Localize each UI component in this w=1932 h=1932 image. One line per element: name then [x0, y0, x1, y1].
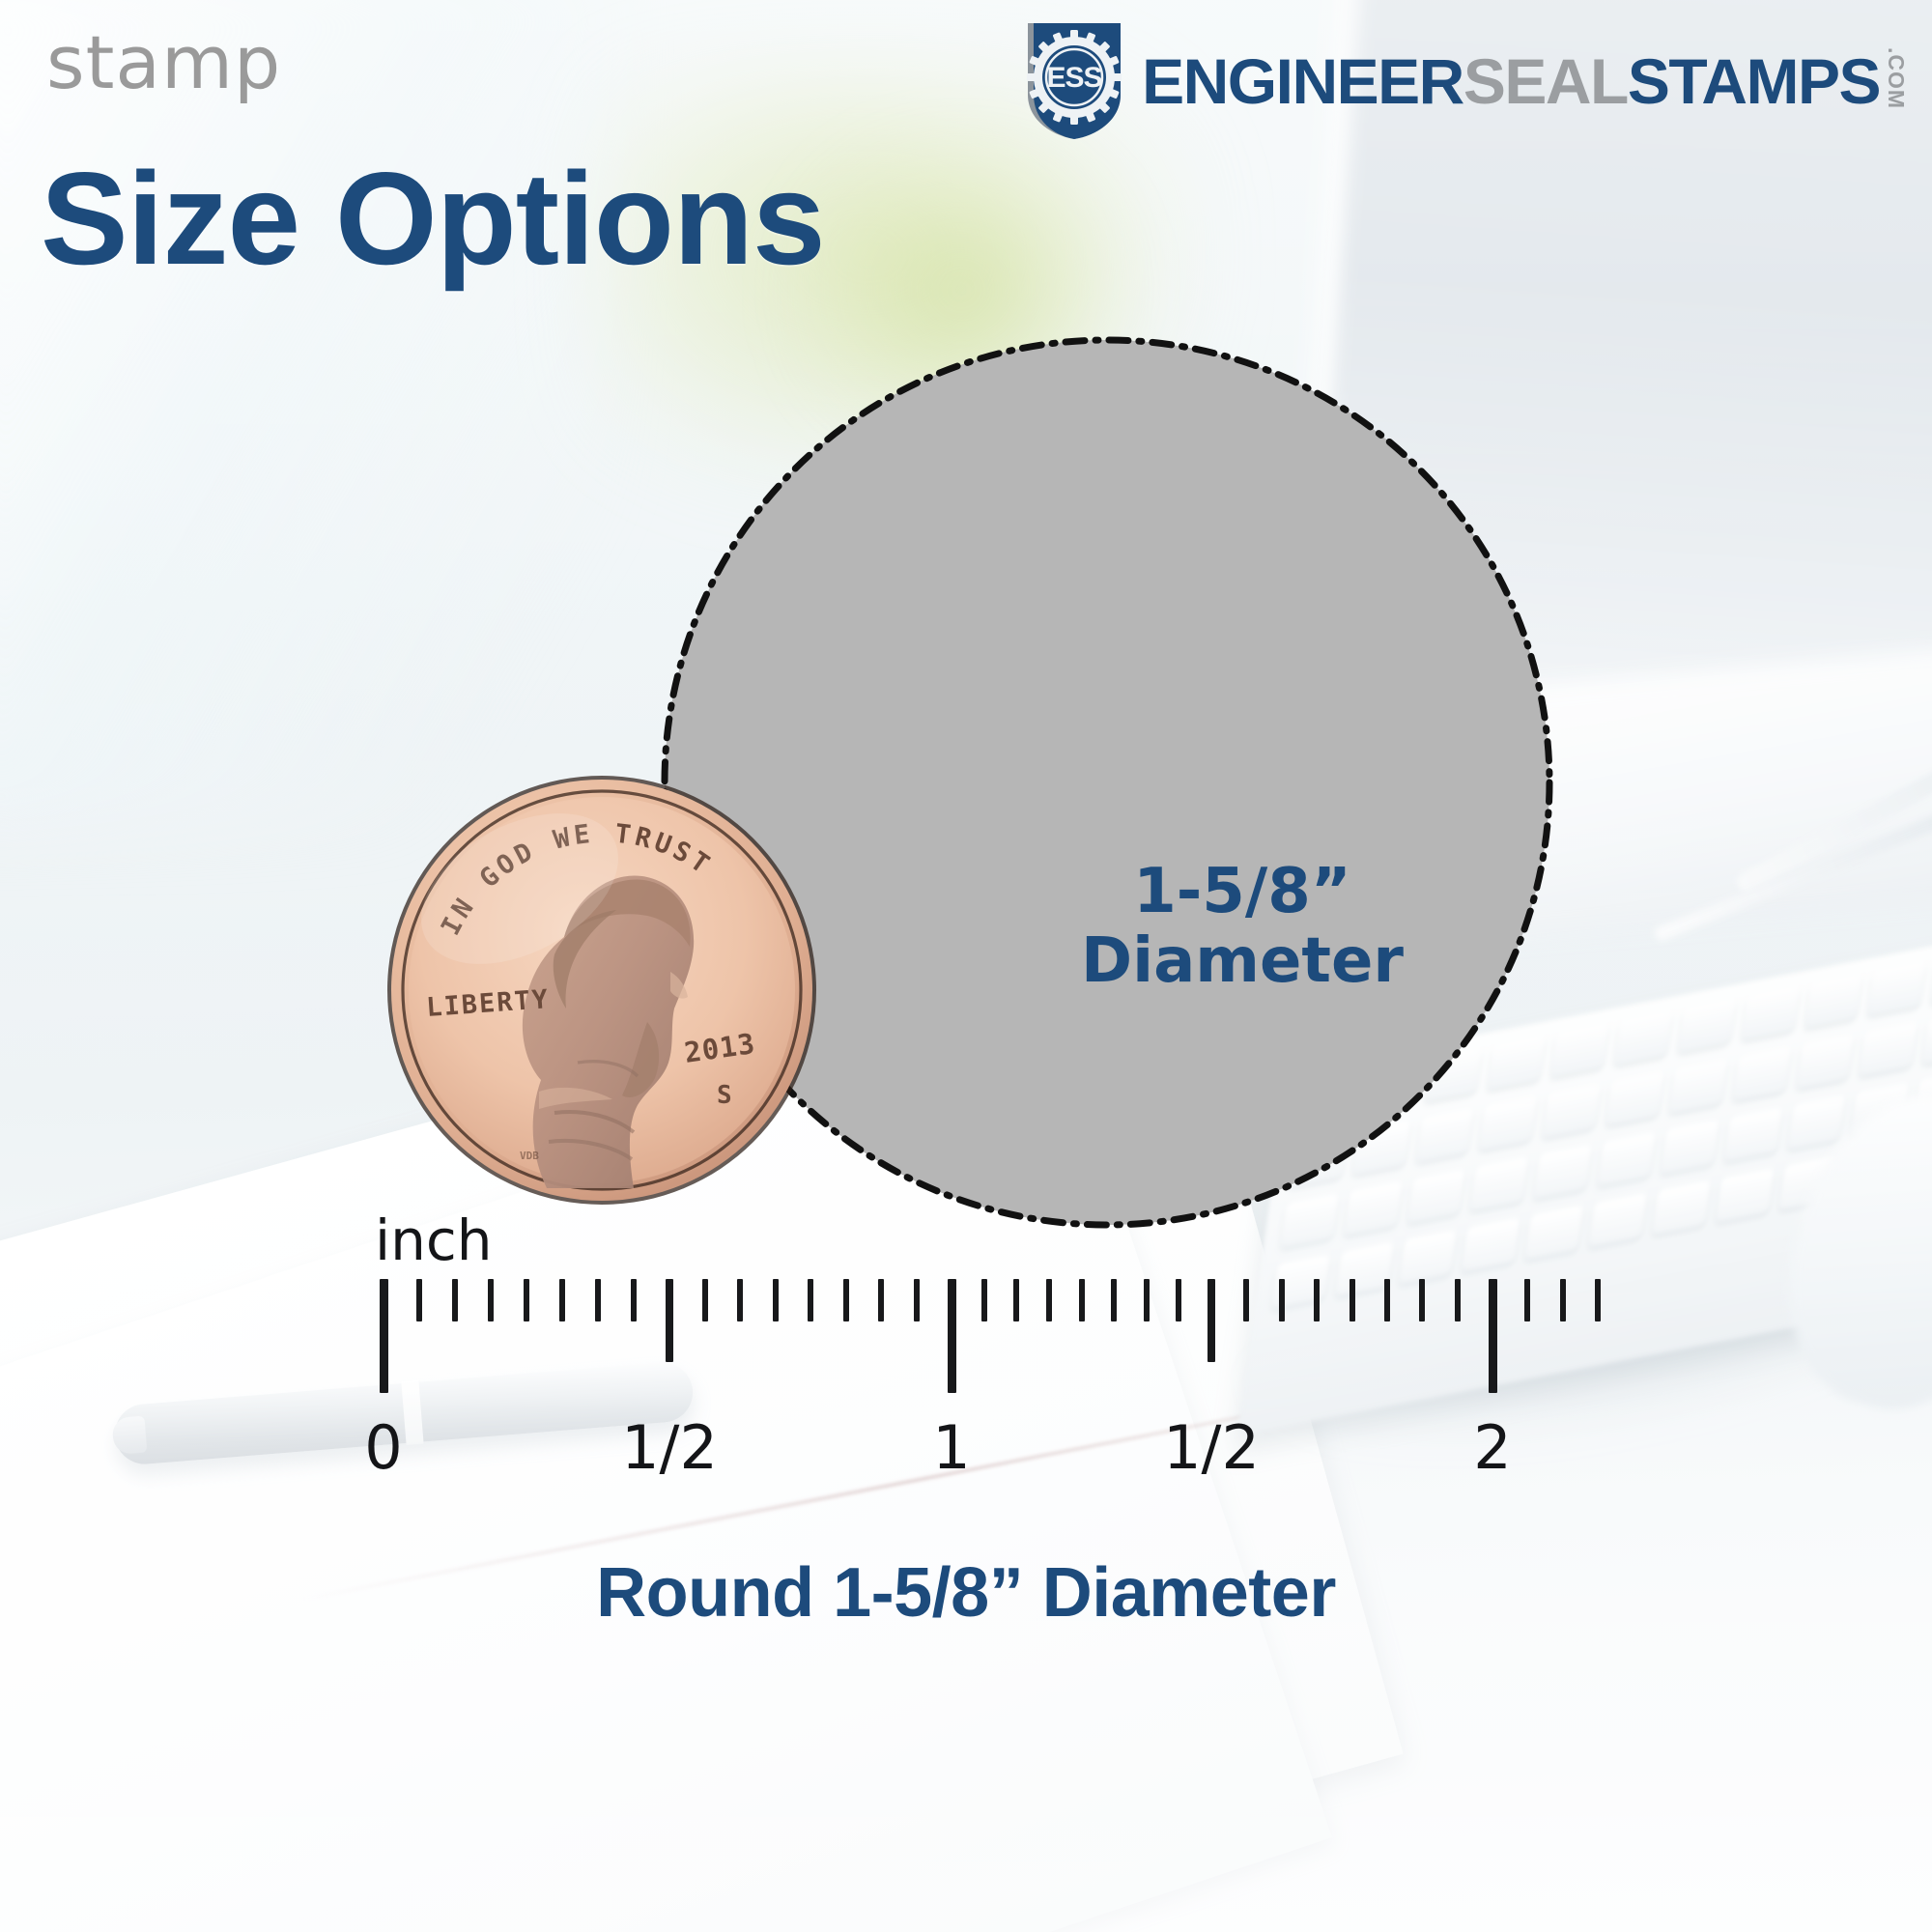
ruler-tick-minor	[559, 1279, 565, 1321]
ruler-tick-minor	[808, 1279, 813, 1321]
ruler-tick-half	[1207, 1279, 1215, 1362]
ruler-tick-minor	[1419, 1279, 1425, 1321]
ruler-tick-minor	[1384, 1279, 1390, 1321]
ruler-tick-minor	[595, 1279, 601, 1321]
ruler-tick-minor	[914, 1279, 920, 1321]
ruler-tick-minor	[878, 1279, 884, 1321]
ruler-tick-half	[666, 1279, 673, 1362]
ruler-tick-minor	[702, 1279, 708, 1321]
ruler-tick-minor	[1279, 1279, 1285, 1321]
ruler-tick-minor	[1314, 1279, 1320, 1321]
ruler-label: 1/2	[621, 1412, 718, 1483]
ruler-tick-major	[1489, 1279, 1497, 1393]
ruler-tick-minor	[1079, 1279, 1085, 1321]
ruler-tick-major	[948, 1279, 956, 1393]
ruler-tick-minor	[1144, 1279, 1150, 1321]
size-caption: Round 1-5/8” Diameter	[0, 1553, 1932, 1633]
ruler-tick-minor	[1243, 1279, 1249, 1321]
ruler-tick-minor	[773, 1279, 779, 1321]
size-options-graphic: stamp Size Options	[0, 0, 1932, 1932]
ruler-tick-minor	[843, 1279, 849, 1321]
ruler-tick-minor	[737, 1279, 743, 1321]
ruler-tick-minor	[631, 1279, 637, 1321]
ruler: 01/211/22	[0, 1256, 1932, 1546]
ruler-tick-minor	[1595, 1279, 1601, 1321]
ruler-tick-minor	[488, 1279, 494, 1321]
ruler-tick-minor	[1046, 1279, 1052, 1321]
ruler-tick-minor	[981, 1279, 987, 1321]
logo-text-stamps: STAMPS	[1628, 52, 1880, 111]
ruler-tick-major	[380, 1279, 388, 1393]
logo[interactable]: ESS ENGINEER SEAL STAMPS .COM	[1020, 17, 1909, 141]
ruler-tick-minor	[1111, 1279, 1117, 1321]
ruler-label: 2	[1473, 1412, 1511, 1483]
penny-coin: IN GOD WE TRUST LIBERTY 2013 S VDB	[384, 773, 819, 1207]
page-title: Size Options	[41, 143, 825, 294]
ruler-tick-minor	[452, 1279, 458, 1321]
ruler-tick-minor	[416, 1279, 422, 1321]
ruler-tick-minor	[1013, 1279, 1019, 1321]
ruler-tick-minor	[1524, 1279, 1530, 1321]
ruler-tick-minor	[1350, 1279, 1355, 1321]
logo-text-seal: SEAL	[1463, 52, 1628, 111]
ruler-label: 1/2	[1163, 1412, 1260, 1483]
logo-text-tld: .COM	[1883, 47, 1909, 109]
logo-wordmark: ENGINEER SEAL STAMPS .COM	[1142, 47, 1909, 111]
ruler-label: 1	[932, 1412, 970, 1483]
ruler-tick-minor	[524, 1279, 529, 1321]
logo-text-engineer: ENGINEER	[1142, 52, 1463, 111]
ruler-label: 0	[364, 1412, 402, 1483]
ruler-tick-minor	[1176, 1279, 1181, 1321]
brand-word: stamp	[46, 19, 281, 105]
ruler-tick-minor	[1455, 1279, 1461, 1321]
svg-text:VDB: VDB	[520, 1150, 539, 1162]
ruler-tick-minor	[1560, 1279, 1566, 1321]
svg-text:S: S	[717, 1081, 732, 1110]
svg-text:ESS: ESS	[1047, 62, 1102, 94]
ess-shield-icon: ESS	[1020, 17, 1128, 141]
